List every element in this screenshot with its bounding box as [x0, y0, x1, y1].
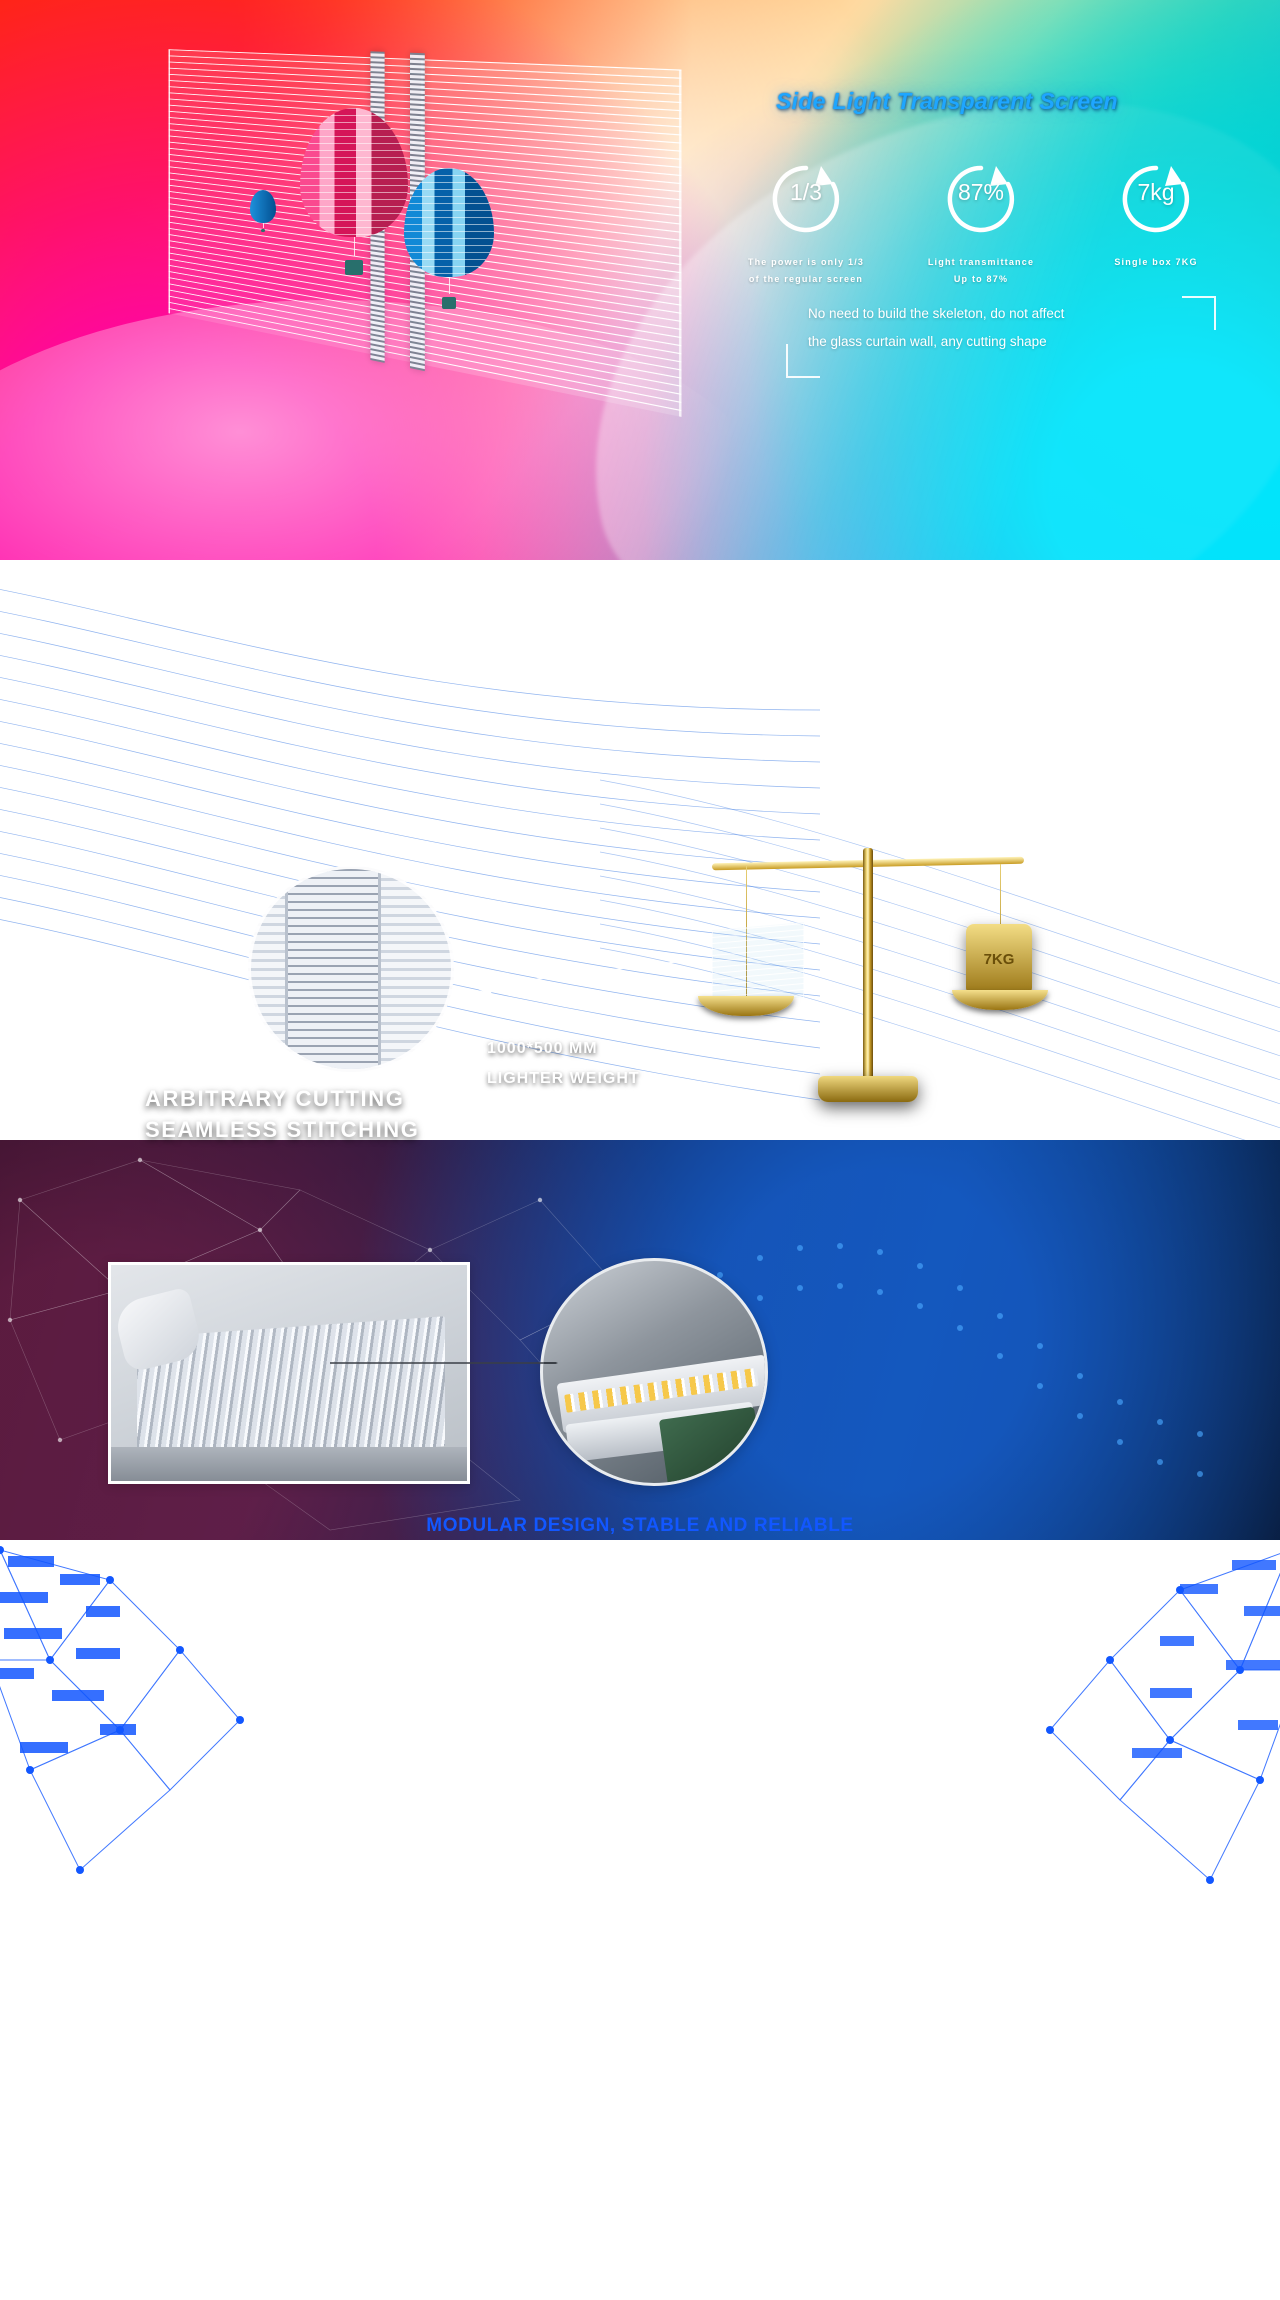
hot-air-balloon-blue-icon — [404, 168, 494, 308]
hot-air-balloon-pink-icon — [300, 108, 408, 273]
scale-base — [818, 1076, 918, 1102]
seamless-stitching-headline: SEAMLESS STITCHING — [145, 1117, 420, 1143]
led-strip-core-detail — [285, 866, 381, 1072]
weight-block-7kg: 7KG — [966, 924, 1032, 994]
scale-pan-right — [952, 990, 1048, 1010]
panel-dimension-label: 1000*500 MM — [487, 1040, 598, 1058]
lighter-weight-label: LIGHTER WEIGHT — [487, 1070, 640, 1088]
pcb-green-board — [659, 1407, 763, 1486]
network-graphic-left — [0, 1540, 310, 1880]
cutting-detail-zoom-circle — [248, 866, 454, 1072]
network-graphic-right — [1000, 1540, 1280, 1890]
hero-note: No need to build the skeleton, do not af… — [808, 300, 1200, 357]
product-marketing-page: Side Light Transparent Screen 1/3 The po… — [0, 0, 1280, 1900]
stat-caption-power-line1: The power is only 1/3 — [746, 254, 866, 271]
stat-item-transmittance: 87% Light transmittance Up to 87% — [921, 160, 1041, 287]
stat-item-power: 1/3 The power is only 1/3 of the regular… — [746, 160, 866, 287]
scale-pan-left — [698, 996, 794, 1016]
hot-air-balloon-small-icon — [250, 190, 276, 232]
stat-item-weight: 7kg Single box 7KG — [1096, 160, 1216, 287]
hero-title: Side Light Transparent Screen — [776, 88, 1118, 115]
hero-note-line2: the glass curtain wall, any cutting shap… — [808, 328, 1200, 356]
scale-pole — [863, 848, 873, 1080]
transparent-screen-on-scale — [712, 922, 804, 1006]
balance-scale-illustration: 7KG — [690, 838, 1050, 1118]
stat-caption-power-line2: of the regular screen — [746, 271, 866, 288]
detail-callout-arrow — [330, 1362, 558, 1364]
workbench-surface — [111, 1447, 467, 1481]
modular-design-title: MODULAR DESIGN, STABLE AND RELIABLE — [0, 1515, 1280, 1537]
zoom-callout-arrow — [455, 945, 705, 1025]
hero-stats-row: 1/3 The power is only 1/3 of the regular… — [746, 160, 1216, 287]
arbitrary-cutting-headline: ARBITRARY CUTTING — [145, 1086, 404, 1112]
hero-note-line1: No need to build the skeleton, do not af… — [808, 300, 1200, 328]
led-module-detail-photo — [540, 1258, 768, 1486]
modular-design-section — [0, 1540, 1280, 1900]
hero-section: Side Light Transparent Screen 1/3 The po… — [0, 0, 1280, 560]
production-photo — [108, 1262, 470, 1484]
stat-caption-weight-line1: Single box 7KG — [1096, 254, 1216, 271]
stat-caption-transmittance-line2: Up to 87% — [921, 271, 1041, 288]
transparency-section: Apple Store More power. More performance… — [0, 560, 1280, 1140]
stat-caption-transmittance-line1: Light transmittance — [921, 254, 1041, 271]
